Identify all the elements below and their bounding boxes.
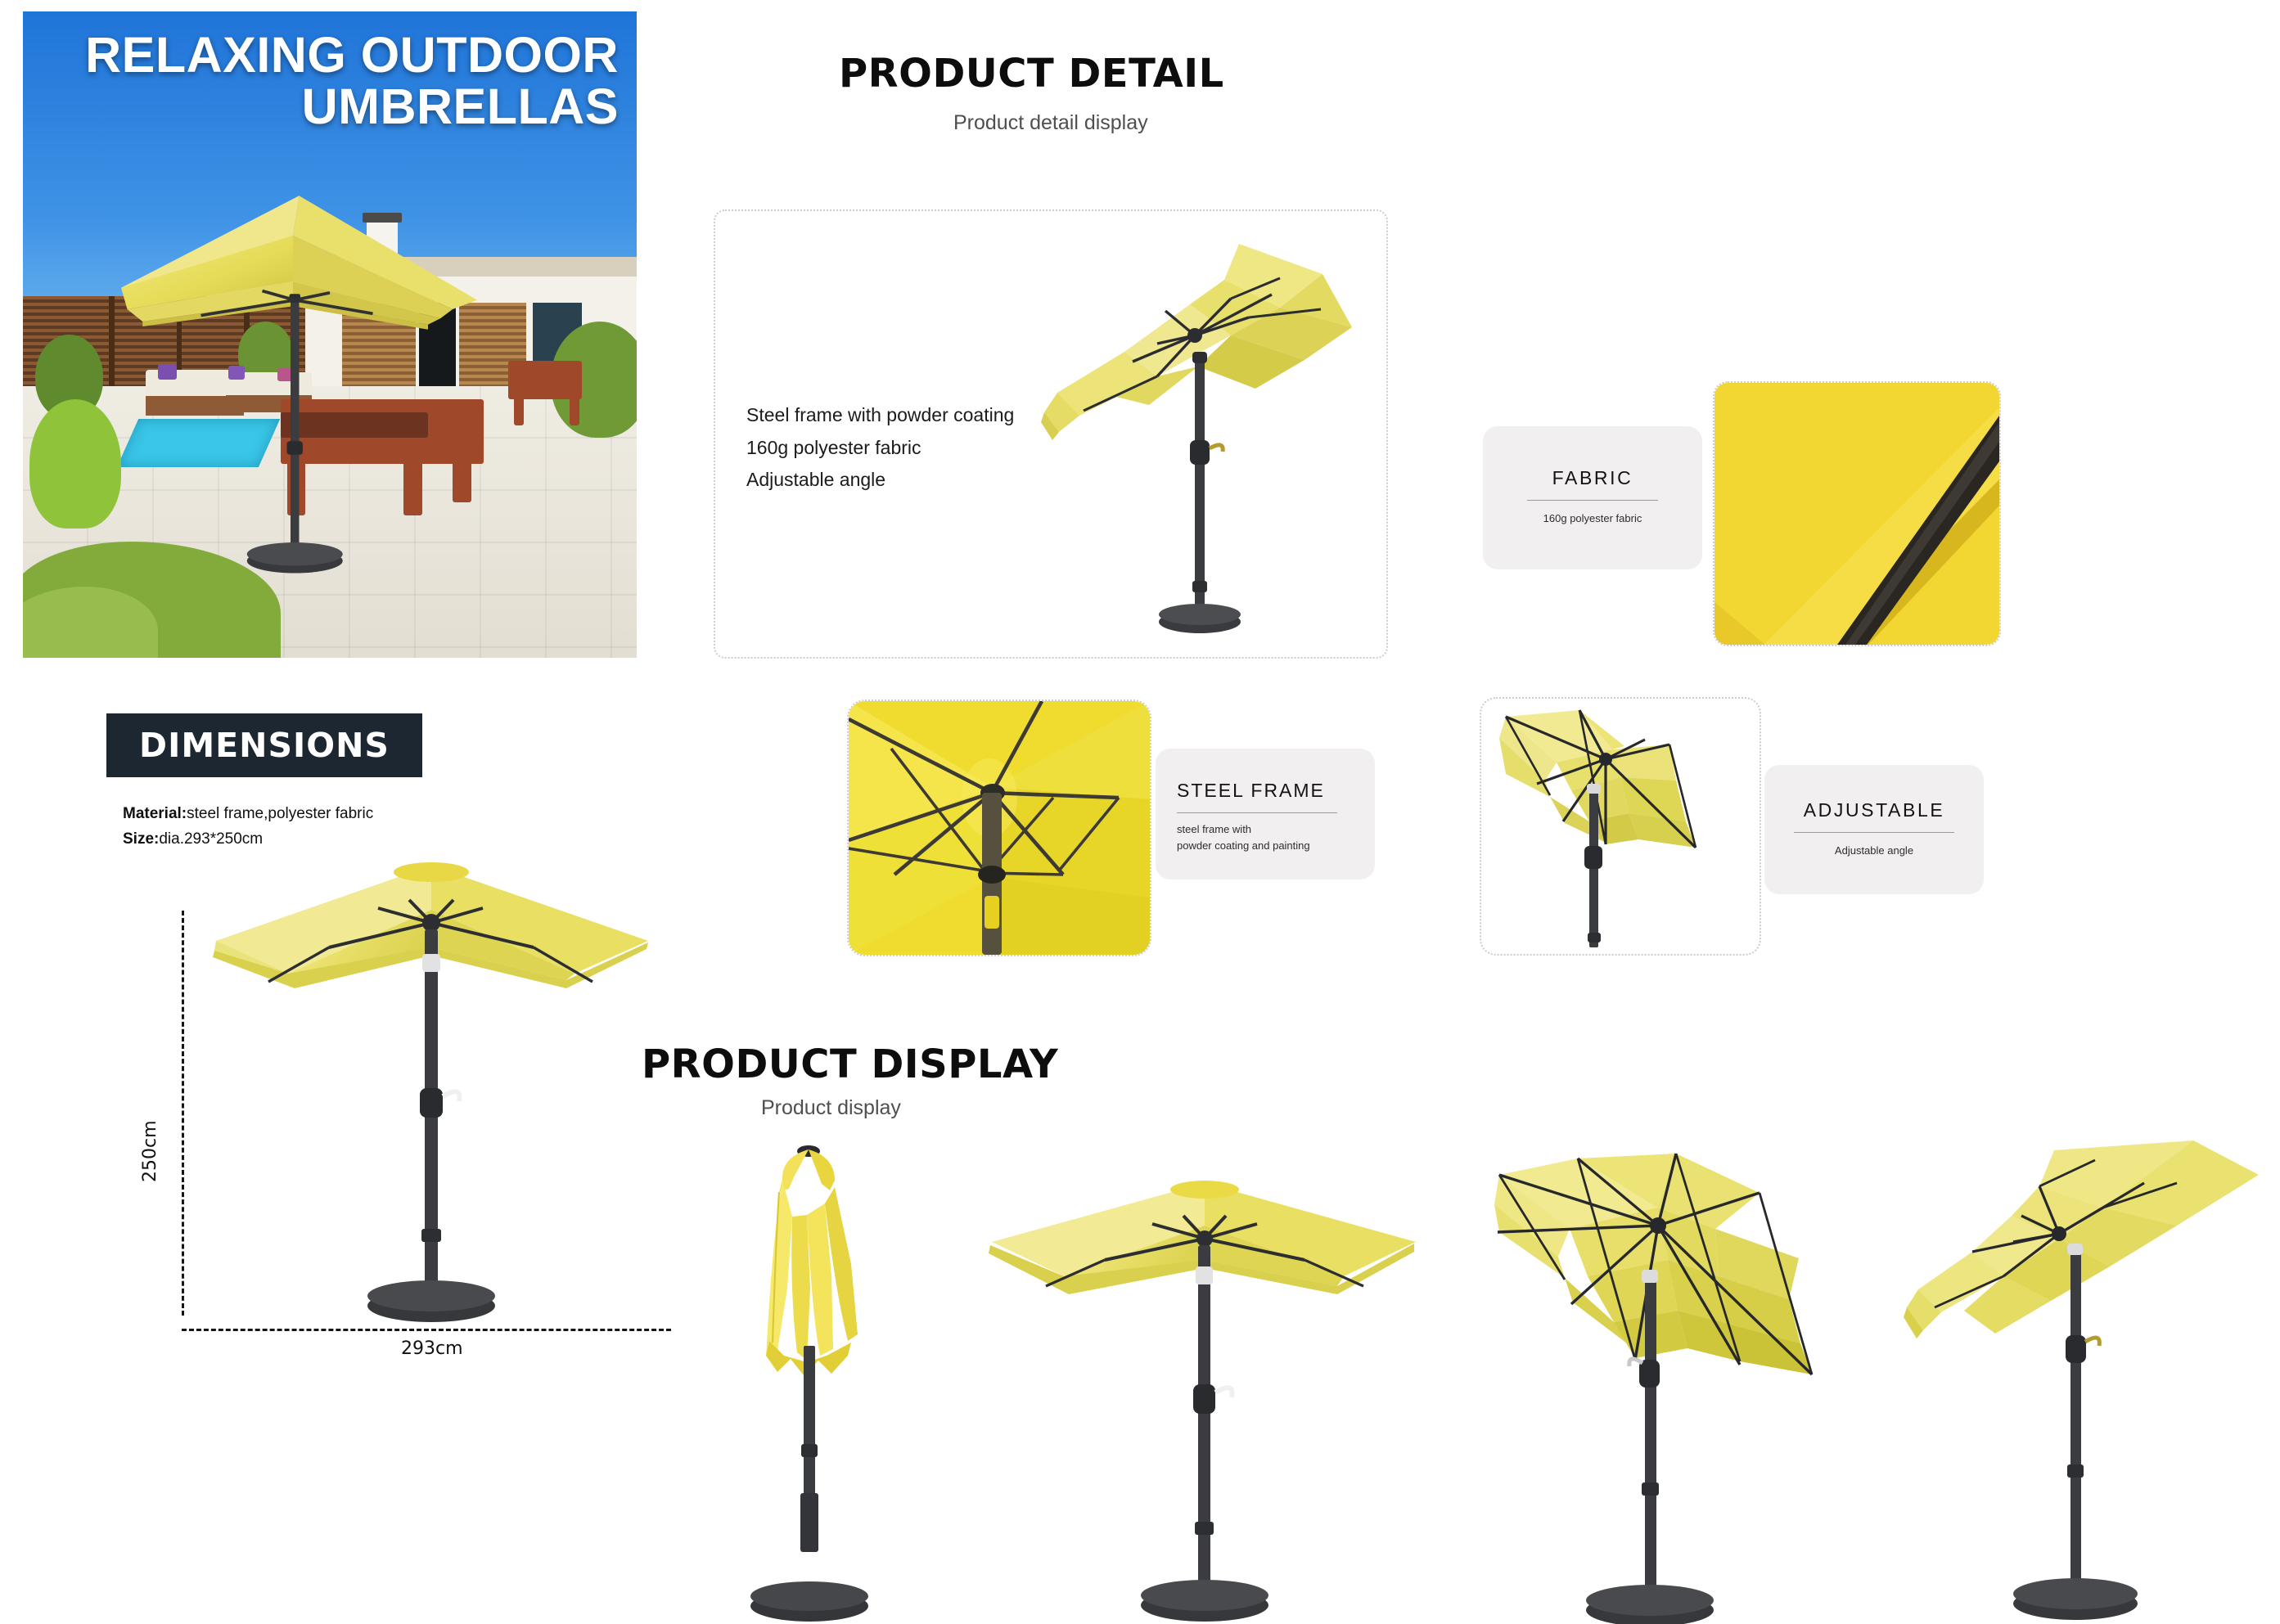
fabric-card-description: 160g polyester fabric xyxy=(1483,511,1702,527)
hero-title-line1: RELAXING OUTDOOR xyxy=(85,27,619,83)
adjustable-image xyxy=(1480,697,1761,956)
adjustable-card-title: ADJUSTABLE xyxy=(1764,799,1984,821)
spec-material-value: steel frame,polyester fabric xyxy=(187,805,373,822)
height-label: 250cm xyxy=(140,1120,160,1182)
spec-material-label: Material: xyxy=(123,805,187,822)
fabric-image xyxy=(1713,381,2001,646)
display-umbrella-closed xyxy=(728,1141,974,1622)
product-detail-panel: Steel frame with powder coating 160g pol… xyxy=(714,209,1388,659)
hero-banner: RELAXING OUTDOOR UMBRELLAS xyxy=(23,11,637,658)
display-umbrella-tilt-left xyxy=(1473,1129,1907,1624)
width-label: 293cm xyxy=(401,1338,463,1359)
display-umbrella-open xyxy=(974,1178,1432,1624)
dimensions-umbrella-image xyxy=(190,851,673,1325)
spec-material: Material:steel frame,polyester fabric xyxy=(123,802,548,827)
display-umbrella-tilt-right xyxy=(1899,1137,2275,1624)
bench-leg xyxy=(570,393,579,425)
product-display-heading: PRODUCT DISPLAY xyxy=(642,1041,1058,1087)
height-guide-line xyxy=(182,911,184,1316)
hero-title: RELAXING OUTDOOR UMBRELLAS xyxy=(23,29,619,133)
spec-size-label: Size: xyxy=(123,830,159,848)
fabric-card: FABRIC 160g polyester fabric xyxy=(1483,426,1702,569)
agave-plant xyxy=(29,399,122,529)
width-guide-line xyxy=(182,1329,671,1331)
dimensions-badge-label: DIMENSIONS xyxy=(139,726,390,765)
adjustable-card-description: Adjustable angle xyxy=(1764,843,1984,859)
dimensions-specs: Material:steel frame,polyester fabric Si… xyxy=(123,802,548,852)
dimensions-badge: DIMENSIONS xyxy=(106,713,422,777)
steel-frame-card-title: STEEL FRAME xyxy=(1156,780,1375,802)
detail-umbrella-image xyxy=(1034,229,1378,646)
steel-frame-image xyxy=(847,700,1151,956)
adjustable-card: ADJUSTABLE Adjustable angle xyxy=(1764,765,1984,894)
product-detail-subheading: Product detail display xyxy=(953,111,1148,135)
spec-size-value: dia.293*250cm xyxy=(159,830,263,848)
spec-size: Size:dia.293*250cm xyxy=(123,827,548,852)
hero-umbrella-image xyxy=(109,167,489,581)
steel-frame-desc-line2: powder coating and painting xyxy=(1177,839,1310,852)
steel-frame-desc-line1: steel frame with xyxy=(1177,823,1251,835)
bench-leg xyxy=(514,393,524,425)
hero-title-line2: UMBRELLAS xyxy=(302,79,619,134)
fabric-card-title: FABRIC xyxy=(1483,467,1702,489)
steel-frame-card: STEEL FRAME steel frame with powder coat… xyxy=(1156,749,1375,879)
product-detail-heading: PRODUCT DETAIL xyxy=(839,51,1224,97)
product-display-subheading: Product display xyxy=(761,1096,901,1120)
